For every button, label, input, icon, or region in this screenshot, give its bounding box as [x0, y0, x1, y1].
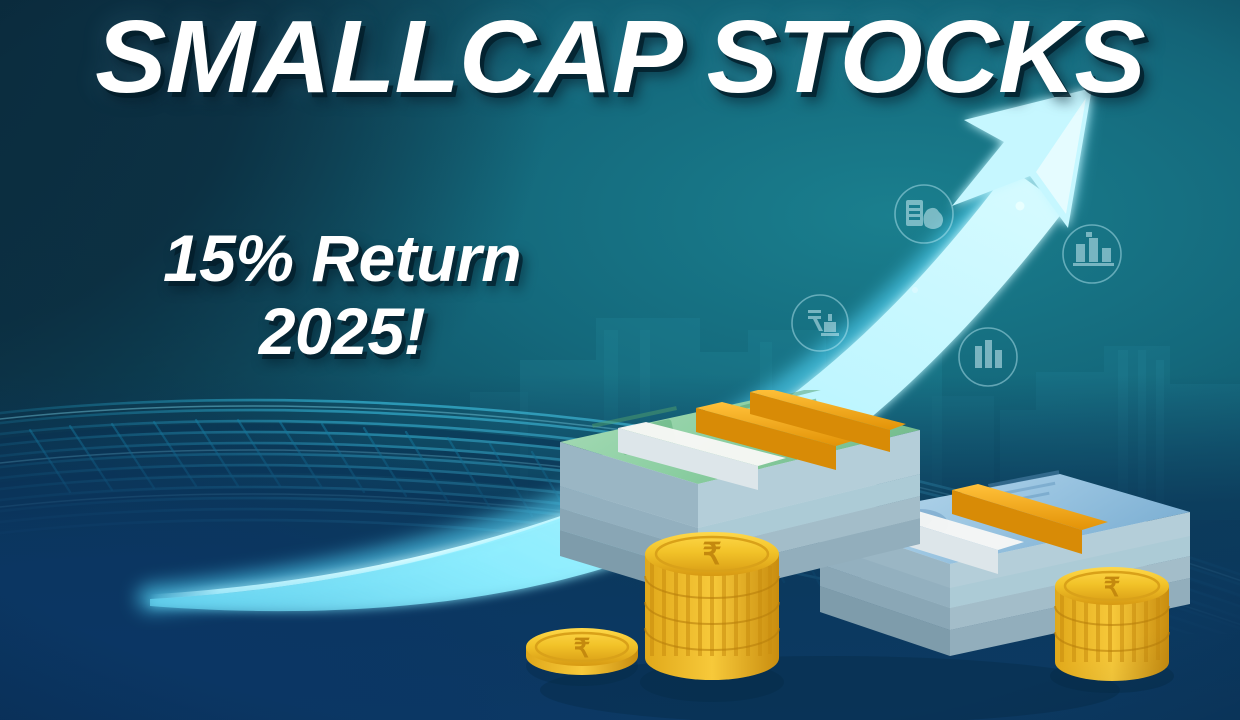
subtitle-line-2: 2025!: [62, 295, 622, 368]
page-title: SMALLCAP STOCKS: [0, 2, 1240, 111]
subtitle: 15% Return 2025!: [62, 222, 622, 367]
subtitle-line-1: 15% Return: [62, 222, 622, 295]
thumbnail-canvas: ₹ ₹: [0, 0, 1240, 720]
